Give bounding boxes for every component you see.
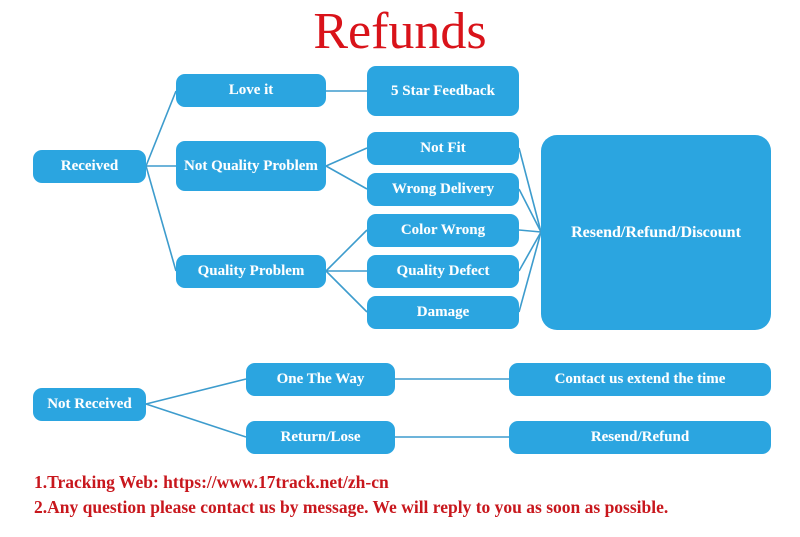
link-not-fit-resolution — [519, 148, 541, 232]
link-not-received-one-the-way — [146, 379, 246, 404]
node-return-lose[interactable]: Return/Lose — [246, 421, 395, 454]
link-wrong-delivery-resolution — [519, 189, 541, 232]
node-quality-defect[interactable]: Quality Defect — [367, 255, 519, 288]
link-received-love-it — [146, 91, 176, 166]
node-resend-refund[interactable]: Resend/Refund — [509, 421, 771, 454]
node-resend-refund-discount[interactable]: Resend/Refund/Discount — [541, 135, 771, 330]
flowchart-canvas: Refunds Received Love it Not Qu — [0, 0, 800, 537]
node-quality-problem[interactable]: Quality Problem — [176, 255, 326, 288]
link-received-quality — [146, 166, 176, 271]
node-wrong-delivery[interactable]: Wrong Delivery — [367, 173, 519, 206]
link-color-wrong-resolution — [519, 230, 541, 232]
link-quality-damage — [326, 271, 367, 312]
note-tracking-web: 1.Tracking Web: https://www.17track.net/… — [34, 470, 794, 495]
link-damage-resolution — [519, 232, 541, 312]
node-damage[interactable]: Damage — [367, 296, 519, 329]
node-love-it[interactable]: Love it — [176, 74, 326, 107]
node-contact-us-extend-time[interactable]: Contact us extend the time — [509, 363, 771, 396]
node-not-quality-problem[interactable]: Not Quality Problem — [176, 141, 326, 191]
note-contact-message: 2.Any question please contact us by mess… — [34, 495, 794, 520]
node-color-wrong[interactable]: Color Wrong — [367, 214, 519, 247]
node-one-the-way[interactable]: One The Way — [246, 363, 395, 396]
link-not-quality-not-fit — [326, 148, 367, 166]
page-title: Refunds — [0, 2, 800, 62]
link-not-received-return-lose — [146, 404, 246, 437]
node-five-star-feedback[interactable]: 5 Star Feedback — [367, 66, 519, 116]
node-received[interactable]: Received — [33, 150, 146, 183]
link-not-quality-wrong-delivery — [326, 166, 367, 189]
node-not-fit[interactable]: Not Fit — [367, 132, 519, 165]
link-quality-defect-resolution — [519, 232, 541, 271]
node-not-received[interactable]: Not Received — [33, 388, 146, 421]
footer-notes: 1.Tracking Web: https://www.17track.net/… — [34, 470, 794, 520]
link-quality-color-wrong — [326, 230, 367, 271]
